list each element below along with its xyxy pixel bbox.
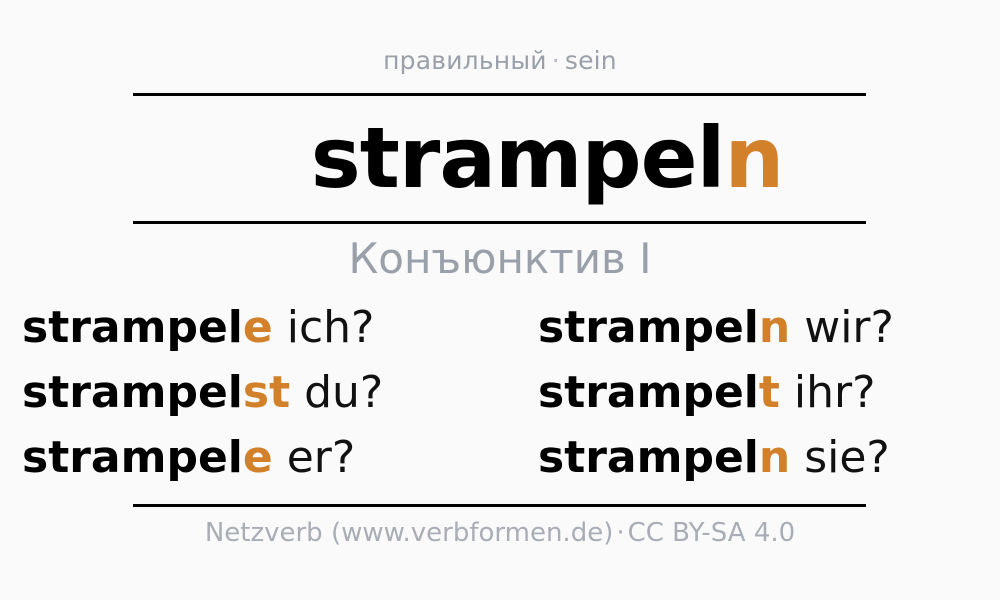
conjugation-pronoun: er? — [273, 432, 356, 483]
conjugation-stem: strampel — [538, 302, 759, 353]
conjugation-ending: st — [243, 367, 290, 418]
conjugation-stem: strampel — [22, 302, 243, 353]
conjugation-stem: strampel — [22, 432, 243, 483]
footer-attribution: Netzverb (www.verbformen.de)·CC BY-SA 4.… — [0, 518, 1000, 548]
conjugation-ending: t — [759, 367, 780, 418]
conjugation-ending: n — [759, 302, 790, 353]
conjugation-pronoun: ihr? — [780, 367, 876, 418]
conjugation-ending: n — [759, 432, 790, 483]
page-title: strampeln — [311, 116, 784, 200]
conjugation-pronoun: du? — [290, 367, 383, 418]
conjugation-stem: strampel — [538, 367, 759, 418]
divider-top — [133, 93, 866, 96]
conjugation-column-plural: strampeln wir? strampelt ihr? strampeln … — [500, 295, 1000, 490]
footer-source: Netzverb (www.verbformen.de) — [205, 518, 614, 548]
conjugation-row: strampeln sie? — [538, 425, 1000, 490]
footer-separator: · — [613, 518, 627, 548]
conjugation-stem: strampel — [22, 367, 243, 418]
divider-bottom — [133, 504, 866, 507]
footer-license: CC BY-SA 4.0 — [628, 518, 796, 548]
headword-ending: n — [724, 109, 783, 207]
verb-type-label: правильный — [383, 46, 547, 75]
auxiliary-verb-label: sein — [565, 46, 617, 75]
conjugation-row: strampelst du? — [22, 360, 500, 425]
divider-middle — [133, 221, 866, 224]
meta-separator: · — [547, 46, 565, 75]
tense-title: Конъюнктив I — [0, 236, 1000, 282]
verb-conjugation-card: правильный·sein strampeln Конъюнктив I s… — [0, 0, 1000, 600]
conjugation-row: strampele ich? — [22, 295, 500, 360]
conjugation-pronoun: sie? — [790, 432, 890, 483]
headword-row: strampeln — [0, 108, 1000, 208]
conjugation-column-singular: strampele ich? strampelst du? strampele … — [0, 295, 500, 490]
conjugation-row: strampelt ihr? — [538, 360, 1000, 425]
german-flag-icon — [217, 125, 287, 195]
conjugation-stem: strampel — [538, 432, 759, 483]
conjugation-pronoun: ich? — [273, 302, 375, 353]
verb-meta-line: правильный·sein — [0, 46, 1000, 75]
headword-stem: strampel — [311, 109, 725, 207]
conjugation-row: strampeln wir? — [538, 295, 1000, 360]
conjugation-ending: e — [243, 432, 273, 483]
conjugation-pronoun: wir? — [790, 302, 894, 353]
conjugation-row: strampele er? — [22, 425, 500, 490]
conjugation-grid: strampele ich? strampelst du? strampele … — [0, 295, 1000, 490]
conjugation-ending: e — [243, 302, 273, 353]
